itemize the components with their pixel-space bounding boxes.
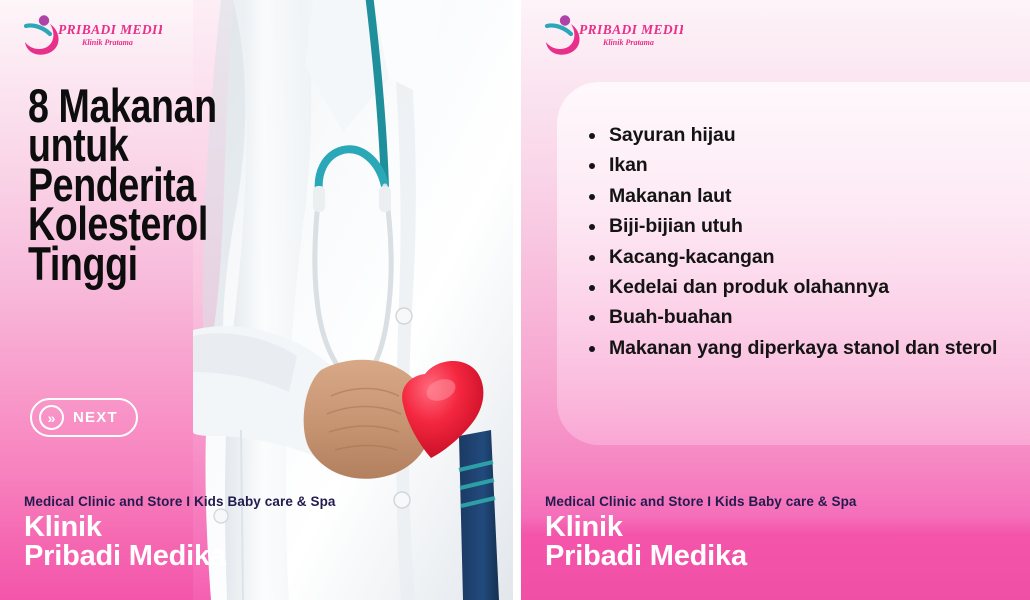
slide-2-footer: Medical Clinic and Store I Kids Baby car… [521, 494, 1030, 600]
next-button-label: NEXT [73, 409, 118, 426]
svg-text:PRIBADI MEDIKA: PRIBADI MEDIKA [58, 22, 162, 37]
slide-2[interactable]: PRIBADI MEDIKA Klinik Pratama Sayuran hi… [521, 0, 1030, 600]
list-item: Kedelai dan produk olahannya [585, 272, 1015, 302]
footer-brand-line-2: Pribadi Medika [545, 542, 1030, 572]
list-item: Makanan yang diperkaya stanol dan sterol [585, 333, 1015, 363]
carousel-stage: PRIBADI MEDIKA Klinik Pratama 8 Makanan … [0, 0, 1030, 600]
list-item: Makanan laut [585, 181, 1015, 211]
slide-divider [513, 0, 521, 600]
slide-1[interactable]: PRIBADI MEDIKA Klinik Pratama 8 Makanan … [0, 0, 513, 600]
double-chevron-right-icon: » [39, 405, 64, 430]
list-item: Sayuran hijau [585, 120, 1015, 150]
brand-logo-secondary: PRIBADI MEDIKA Klinik Pratama [543, 12, 683, 58]
next-button[interactable]: » NEXT [30, 398, 138, 437]
list-item: Kacang-kacangan [585, 242, 1015, 272]
list-item: Biji-bijian utuh [585, 211, 1015, 241]
svg-text:Klinik Pratama: Klinik Pratama [81, 38, 133, 47]
food-list: Sayuran hijau Ikan Makanan laut Biji-bij… [585, 120, 1015, 363]
svg-text:PRIBADI MEDIKA: PRIBADI MEDIKA [579, 22, 683, 37]
svg-text:Klinik Pratama: Klinik Pratama [602, 38, 654, 47]
footer-tagline: Medical Clinic and Store I Kids Baby car… [24, 494, 513, 509]
slide-1-footer: Medical Clinic and Store I Kids Baby car… [0, 494, 513, 600]
brand-logo: PRIBADI MEDIKA Klinik Pratama [22, 12, 162, 58]
page-title: 8 Makanan untuk Penderita Kolesterol Tin… [28, 86, 328, 283]
list-item: Buah-buahan [585, 302, 1015, 332]
footer-brand-line-1: Klinik [545, 513, 1030, 543]
footer-tagline: Medical Clinic and Store I Kids Baby car… [545, 494, 1030, 509]
footer-brand-line-1: Klinik [24, 513, 513, 543]
list-item: Ikan [585, 150, 1015, 180]
footer-brand-line-2: Pribadi Medika [24, 542, 513, 572]
